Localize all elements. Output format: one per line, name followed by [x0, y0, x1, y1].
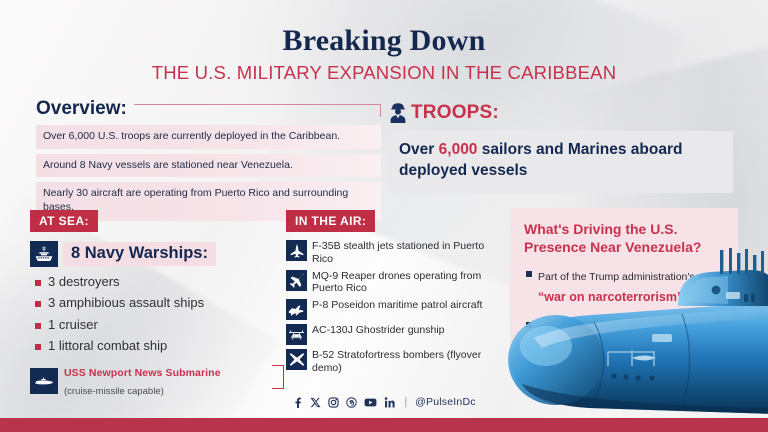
- in-the-air-section: IN THE AIR: F-35B stealth jets stationed…: [286, 210, 491, 375]
- in-the-air-banner: IN THE AIR:: [286, 210, 375, 232]
- troops-section: TROOPS: Over 6,000 sailors and Marines a…: [388, 102, 733, 193]
- troops-header-row: TROOPS:: [388, 102, 733, 124]
- driving-point-emphasis: “war on narcoterrorism”.: [538, 290, 687, 304]
- bullet-square: [35, 301, 41, 307]
- header: Breaking Down THE U.S. MILITARY EXPANSIO…: [0, 24, 768, 84]
- warship-icon: [30, 241, 58, 267]
- threads-icon[interactable]: [346, 397, 357, 408]
- soldier-icon: [388, 102, 408, 124]
- overview-rule: [134, 100, 381, 118]
- troops-count: 6,000: [439, 141, 478, 158]
- footer-divider: |: [404, 396, 407, 408]
- driving-point-lead: Part of the Trump administration's: [538, 271, 695, 283]
- submarine-icon: [30, 368, 58, 394]
- overview-section: Overview: Over 6,000 U.S. troops are cur…: [36, 98, 381, 221]
- facebook-icon[interactable]: [292, 397, 303, 408]
- patrol-plane-icon: [286, 299, 307, 320]
- linkedin-icon[interactable]: [384, 397, 396, 408]
- troops-text-before: Over: [399, 141, 439, 158]
- list-item: 1 cruiser: [30, 317, 270, 333]
- bullet-square: [526, 322, 532, 328]
- list-item-label: P-8 Poseidon maritime patrol aircraft: [312, 299, 482, 312]
- driving-factors-title: What's Driving the U.S. Presence Near Ve…: [524, 221, 724, 256]
- troops-statement: Over 6,000 sailors and Marines aboard de…: [388, 131, 733, 193]
- list-item-label: 3 amphibious assault ships: [48, 295, 204, 311]
- warships-title: 8 Navy Warships:: [63, 242, 216, 266]
- overview-row: Over 6,000 U.S. troops are currently dep…: [36, 125, 381, 149]
- submarine-callout: USS Newport News Submarine (cruise-missi…: [30, 363, 270, 399]
- fighter-jet-icon: [286, 240, 307, 261]
- bottom-accent-bar: [0, 418, 768, 432]
- overview-row: Around 8 Navy vessels are stationed near…: [36, 154, 381, 178]
- list-item-label: 3 destroyers: [48, 274, 120, 290]
- warships-header-row: 8 Navy Warships:: [30, 241, 270, 267]
- list-item: 3 destroyers: [30, 274, 270, 290]
- list-item: 3 amphibious assault ships: [30, 295, 270, 311]
- at-sea-banner: AT SEA:: [30, 210, 98, 232]
- driving-point-body: Analysts call it one of THE LARGEST U.S.…: [538, 317, 688, 400]
- list-item: 1 littoral combat ship: [30, 338, 270, 354]
- driving-point-sub2: in decades.: [538, 384, 592, 396]
- list-item: P-8 Poseidon maritime patrol aircraft: [286, 299, 491, 320]
- list-item: Analysts call it one of THE LARGEST U.S.…: [524, 317, 724, 400]
- footer-handle: @PulseInDc: [415, 396, 476, 408]
- at-sea-list: 3 destroyers 3 amphibious assault ships …: [30, 274, 270, 354]
- bullet-square: [526, 271, 532, 277]
- submarine-bracket: [272, 365, 284, 389]
- driving-point-lead: Analysts call it one of: [538, 322, 637, 334]
- list-item: F-35B stealth jets stationed in Puerto R…: [286, 240, 491, 266]
- driving-factors-panel: What's Driving the U.S. Presence Near Ve…: [510, 208, 738, 360]
- page-subtitle: THE U.S. MILITARY EXPANSION IN THE CARIB…: [0, 62, 768, 84]
- overview-header-row: Overview:: [36, 98, 381, 120]
- list-item-label: MQ-9 Reaper drones operating from Puerto…: [312, 270, 491, 296]
- drone-jet-icon: [286, 270, 307, 291]
- submarine-name: USS Newport News Submarine: [64, 367, 221, 379]
- list-item-label: 1 littoral combat ship: [48, 338, 167, 354]
- bullet-square: [35, 280, 41, 286]
- list-item: Part of the Trump administration's “war …: [524, 266, 724, 308]
- list-item: MQ-9 Reaper drones operating from Puerto…: [286, 270, 491, 296]
- overview-title: Overview:: [36, 98, 127, 120]
- list-item: B-52 Stratofortress bombers (flyover dem…: [286, 349, 491, 375]
- gunship-icon: [286, 324, 307, 345]
- list-item-label: AC-130J Ghostrider gunship: [312, 324, 445, 337]
- list-item-label: F-35B stealth jets stationed in Puerto R…: [312, 240, 491, 266]
- list-item-label: B-52 Stratofortress bombers (flyover dem…: [312, 349, 491, 375]
- instagram-icon[interactable]: [328, 397, 339, 408]
- bullet-square: [35, 344, 41, 350]
- driving-point-emphasis: THE LARGEST U.S. NAVAL: [538, 342, 688, 354]
- bullet-square: [35, 323, 41, 329]
- aircraft-list: F-35B stealth jets stationed in Puerto R…: [286, 240, 491, 375]
- x-icon[interactable]: [310, 397, 321, 408]
- driving-point-sub: presences in the region: [538, 363, 647, 375]
- submarine-texts: USS Newport News Submarine (cruise-missi…: [64, 363, 270, 399]
- at-sea-section: AT SEA: 8 Navy Warships:: [30, 210, 270, 399]
- youtube-icon[interactable]: [364, 397, 377, 408]
- footer: | @PulseInDc: [0, 396, 768, 408]
- page-title: Breaking Down: [0, 24, 768, 58]
- troops-label: TROOPS:: [411, 102, 499, 124]
- list-item: AC-130J Ghostrider gunship: [286, 324, 491, 345]
- driving-factors-list: Part of the Trump administration's “war …: [524, 266, 724, 400]
- infographic-canvas: Breaking Down THE U.S. MILITARY EXPANSIO…: [0, 0, 768, 432]
- bomber-icon: [286, 349, 307, 370]
- driving-point-body: Part of the Trump administration's “war …: [538, 266, 695, 308]
- list-item-label: 1 cruiser: [48, 317, 98, 333]
